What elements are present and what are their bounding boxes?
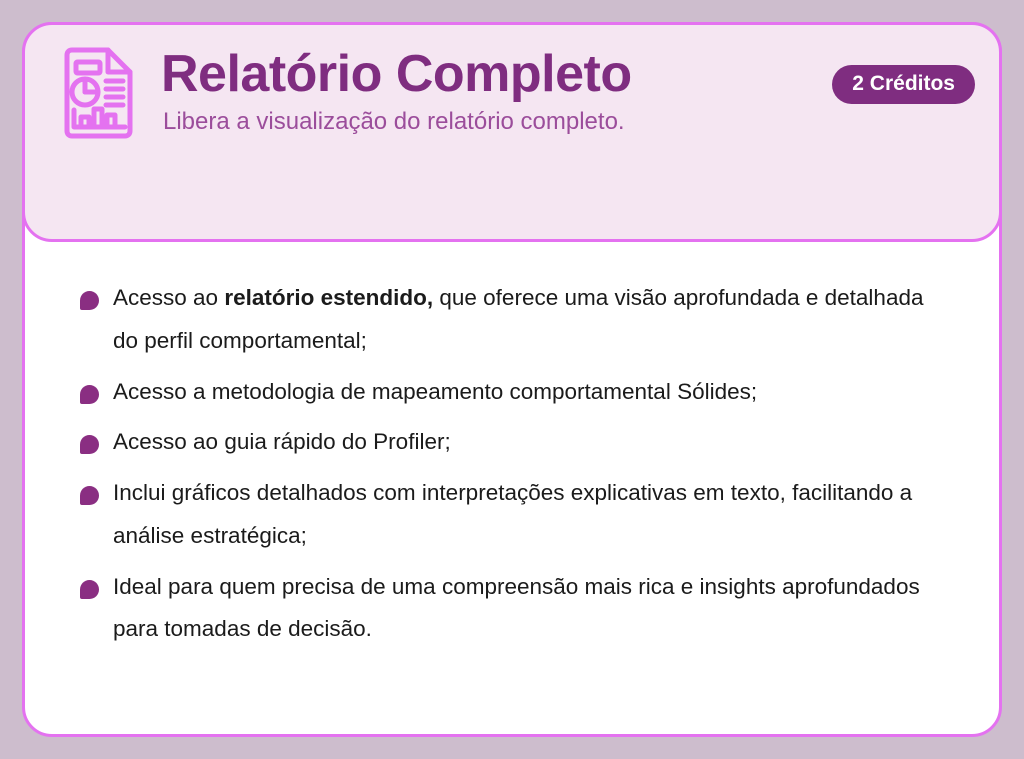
plan-card: Relatório Completo Libera a visualização…	[22, 22, 1002, 737]
list-item: Acesso ao guia rápido do Profiler;	[80, 421, 943, 464]
list-item: Acesso ao relatório estendido, que ofere…	[80, 277, 943, 363]
list-item: Inclui gráficos detalhados com interpret…	[80, 472, 943, 558]
feature-text-lead: Acesso ao guia rápido do Profiler;	[113, 429, 451, 454]
bullet-icon	[80, 385, 99, 404]
bullet-icon	[80, 580, 99, 599]
bullet-icon	[80, 291, 99, 310]
credits-badge: 2 Créditos	[832, 65, 975, 104]
page-title: Relatório Completo	[161, 47, 632, 102]
report-document-chart-icon	[61, 47, 135, 139]
bullet-icon	[80, 435, 99, 454]
card-header-panel: Relatório Completo Libera a visualização…	[22, 22, 1002, 242]
feature-text-emphasis: relatório estendido,	[224, 285, 433, 310]
list-item: Acesso a metodologia de mapeamento compo…	[80, 371, 943, 414]
feature-text-lead: Inclui gráficos detalhados com interpret…	[113, 480, 912, 548]
feature-text-lead: Acesso a metodologia de mapeamento compo…	[113, 379, 757, 404]
bullet-icon	[80, 486, 99, 505]
feature-text-lead: Ideal para quem precisa de uma compreens…	[113, 574, 920, 642]
list-item: Ideal para quem precisa de uma compreens…	[80, 566, 943, 652]
page-subtitle: Libera a visualização do relatório compl…	[163, 108, 632, 137]
feature-text-lead: Acesso ao	[113, 285, 224, 310]
feature-list: Acesso ao relatório estendido, que ofere…	[80, 277, 959, 659]
header-text-block: Relatório Completo Libera a visualização…	[161, 43, 632, 136]
